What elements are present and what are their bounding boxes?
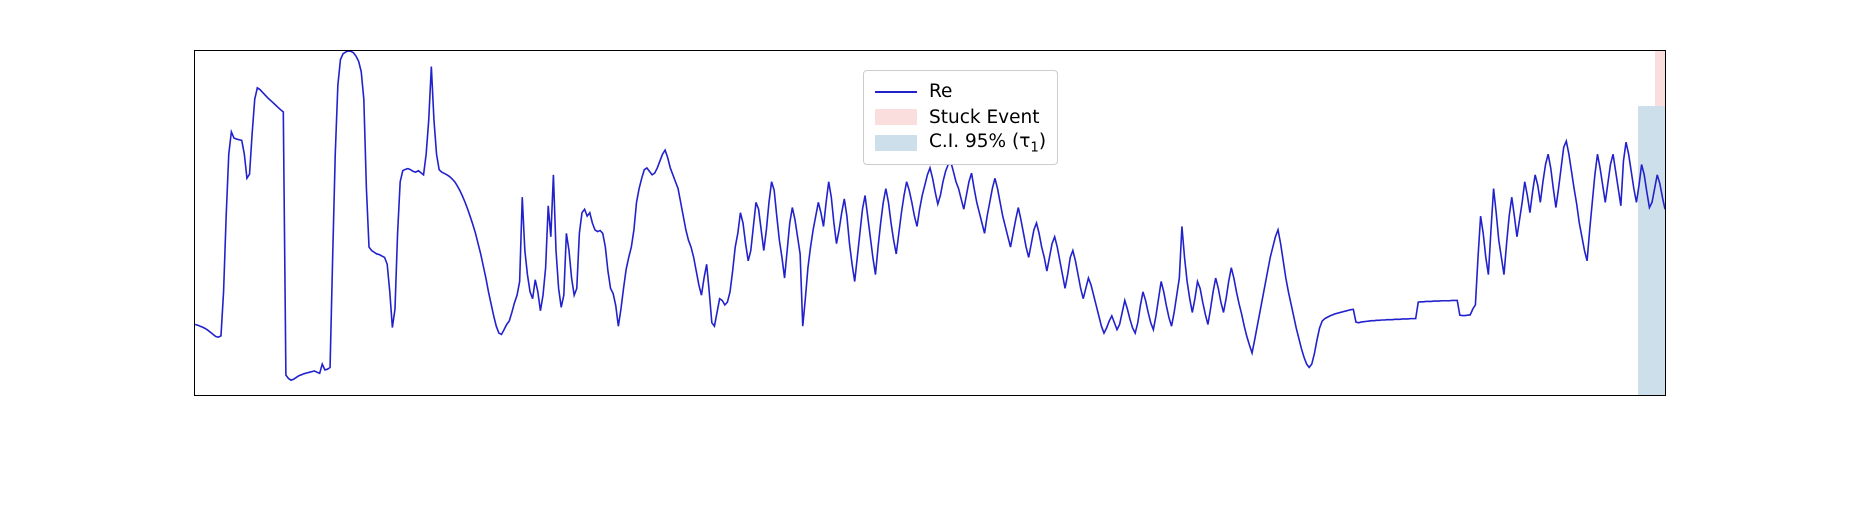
x-tick-mark xyxy=(1298,395,1299,396)
legend-patch-swatch-ci-icon xyxy=(875,135,917,151)
y-tick-mark xyxy=(194,258,195,259)
x-tick-mark xyxy=(630,395,631,396)
x-tick-mark xyxy=(964,395,965,396)
legend-ci-prefix: C.I. 95% (τ xyxy=(929,131,1030,152)
legend-line-swatch-icon xyxy=(875,83,917,99)
y-tick-mark xyxy=(194,327,195,328)
y-tick-mark xyxy=(194,50,195,51)
legend-patch-swatch-stuck-icon xyxy=(875,109,917,125)
x-tick-mark xyxy=(463,395,464,396)
x-tick-mark xyxy=(1465,395,1466,396)
legend-label-confidence-interval: C.I. 95% (τ1) xyxy=(929,131,1046,156)
legend-item-stuck-event[interactable]: Stuck Event xyxy=(875,104,1046,130)
legend-item-confidence-interval[interactable]: C.I. 95% (τ1) xyxy=(875,130,1046,156)
x-tick-mark xyxy=(797,395,798,396)
chart-figure: HOOK Semisupervised Model 0.00.20.40.60.… xyxy=(0,0,1850,525)
legend-ci-subscript: 1 xyxy=(1030,140,1038,155)
x-tick-mark xyxy=(1632,395,1633,396)
legend-item-re[interactable]: Re xyxy=(875,78,1046,104)
legend-ci-suffix: ) xyxy=(1039,131,1046,152)
legend-label-re: Re xyxy=(929,81,952,102)
chart-legend[interactable]: Re Stuck Event C.I. 95% (τ1) xyxy=(863,70,1058,165)
x-tick-mark xyxy=(1131,395,1132,396)
y-tick-mark xyxy=(194,120,195,121)
x-tick-mark xyxy=(296,395,297,396)
legend-label-stuck-event: Stuck Event xyxy=(929,107,1040,128)
y-tick-mark xyxy=(194,189,195,190)
